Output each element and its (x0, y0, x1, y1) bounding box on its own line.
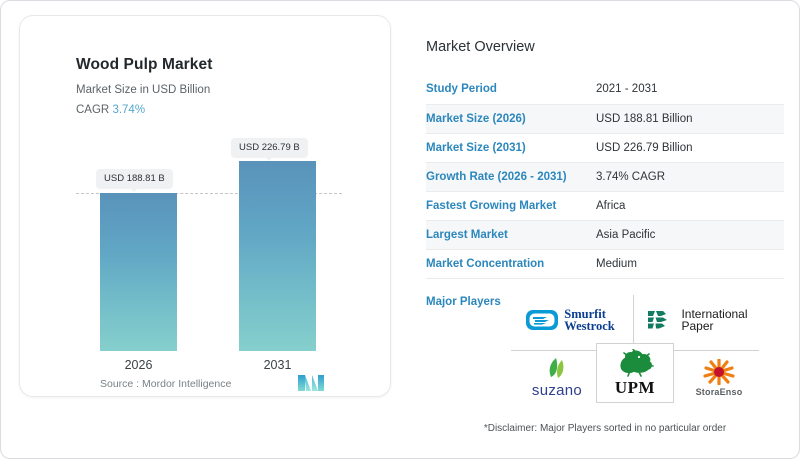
table-row: Fastest Growing Market Africa (426, 191, 784, 220)
cagr-label: CAGR (76, 104, 109, 116)
table-row: Growth Rate (2026 - 2031) 3.74% CAGR (426, 162, 784, 191)
bar-value-label-2026: USD 188.81 B (96, 169, 173, 188)
player-logo-text: Smurfit Westrock (564, 308, 614, 332)
source-text: Source : Mordor Intelligence (100, 378, 231, 390)
mordor-intelligence-logo (298, 375, 324, 396)
international-paper-icon (648, 309, 676, 331)
chart-subtitle: Market Size in USD Billion (76, 84, 210, 96)
player-logo-suzano: suzano (511, 353, 603, 403)
player-logo-upm: UPM (596, 343, 674, 403)
upm-griffin-icon (615, 349, 655, 377)
row-value: Medium (596, 249, 784, 278)
table-row: Largest Market Asia Pacific (426, 220, 784, 249)
player-logo-text: StoraEnso (696, 387, 743, 397)
logo-line-2: Paper (681, 320, 747, 333)
player-logo-text: International Paper (681, 308, 747, 333)
row-value: 2021 - 2031 (596, 75, 784, 104)
table-row: Market Concentration Medium (426, 249, 784, 278)
player-logo-text: UPM (615, 378, 655, 398)
table-row: Market Size (2031) USD 226.79 Billion (426, 133, 784, 162)
chart-cagr: CAGR 3.74% (76, 104, 145, 116)
market-summary-page: Wood Pulp Market Market Size in USD Bill… (0, 0, 800, 459)
player-logo-international-paper: International Paper (637, 295, 759, 345)
row-key: Market Size (2031) (426, 133, 596, 162)
player-logo-text: suzano (532, 382, 582, 399)
suzano-leaf-icon (544, 357, 570, 381)
row-key: Market Concentration (426, 249, 596, 278)
market-overview-table: Study Period 2021 - 2031 Market Size (20… (426, 75, 784, 279)
x-axis-tick-2026: 2026 (100, 358, 177, 372)
cagr-value: 3.74% (112, 104, 145, 116)
row-value: Africa (596, 191, 784, 220)
source-row: Source : Mordor Intelligence (100, 378, 340, 390)
row-key: Largest Market (426, 220, 596, 249)
disclaimer-text: *Disclaimer: Major Players sorted in no … (425, 423, 785, 434)
row-key: Study Period (426, 75, 596, 104)
player-logo-stora-enso: StoraEnso (679, 353, 759, 403)
row-key: Fastest Growing Market (426, 191, 596, 220)
table-row: Market Size (2026) USD 188.81 Billion (426, 104, 784, 133)
market-overview-heading: Market Overview (426, 39, 786, 55)
row-value: USD 226.79 Billion (596, 133, 784, 162)
bar-value-label-2031: USD 226.79 B (231, 138, 308, 157)
stora-enso-sun-icon (703, 359, 735, 385)
row-value: Asia Pacific (596, 220, 784, 249)
smurfit-westrock-icon (525, 307, 559, 333)
logo-line-2: Westrock (564, 320, 614, 332)
grid-divider-vertical-top (633, 295, 634, 345)
chart-card: Wood Pulp Market Market Size in USD Bill… (19, 15, 391, 397)
market-overview-panel: Market Overview Study Period 2021 - 2031… (426, 39, 786, 308)
bar-2031 (239, 161, 316, 351)
bar-2026 (100, 193, 177, 351)
player-logo-smurfit-westrock: Smurfit Westrock (511, 295, 629, 345)
row-value: USD 188.81 Billion (596, 104, 784, 133)
bar-chart-plot-area: USD 188.81 B USD 226.79 B 2026 2031 (76, 136, 342, 351)
x-axis-tick-2031: 2031 (239, 358, 316, 372)
row-key: Growth Rate (2026 - 2031) (426, 162, 596, 191)
major-players-logo-grid: Smurfit Westrock Internationa (511, 295, 759, 403)
page-title: Wood Pulp Market (76, 56, 213, 74)
row-value: 3.74% CAGR (596, 162, 784, 191)
row-key: Market Size (2026) (426, 104, 596, 133)
table-row: Study Period 2021 - 2031 (426, 75, 784, 104)
